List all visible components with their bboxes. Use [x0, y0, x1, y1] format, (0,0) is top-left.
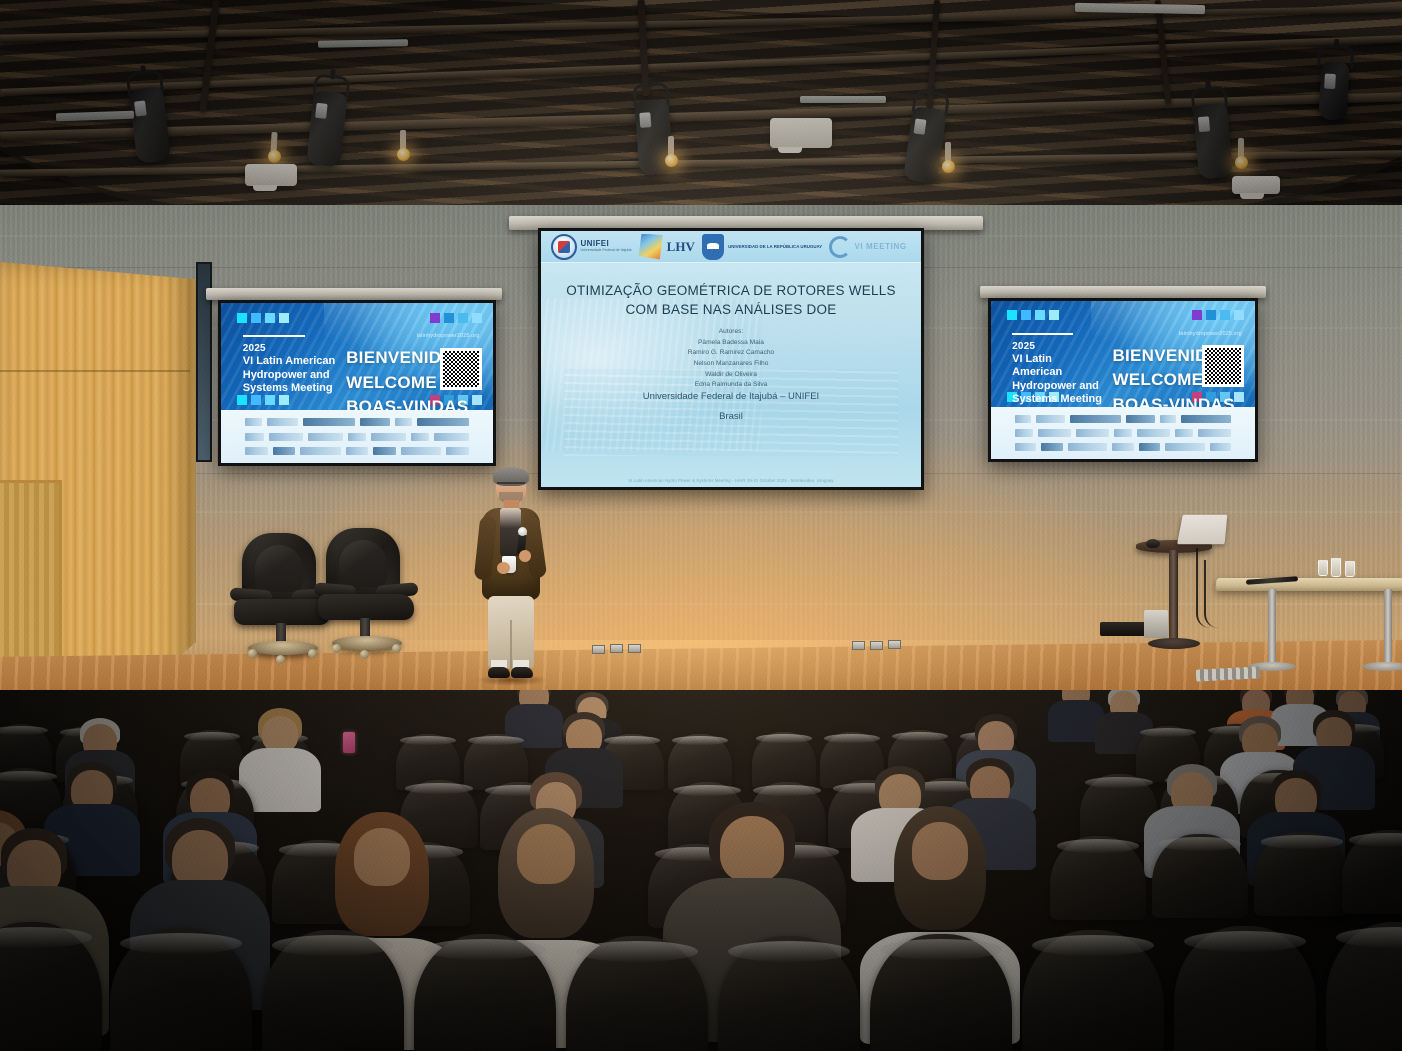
water-glass[interactable]	[1318, 560, 1328, 576]
water-carafe[interactable]	[1331, 558, 1341, 577]
presenter-laptop[interactable]	[1177, 515, 1227, 544]
auditorium-seat[interactable]	[1326, 922, 1402, 1051]
pedestal-pole	[1169, 550, 1178, 642]
table-top	[1215, 578, 1402, 591]
chair-caster	[308, 649, 317, 658]
udelar-shield-icon	[702, 234, 724, 260]
presentation-title-slide: UNIFEI Universidade Federal de Itajubá L…	[541, 231, 921, 487]
presenter-shoe	[488, 667, 510, 678]
cable	[1204, 560, 1230, 628]
auditorium-seat[interactable]	[1254, 832, 1350, 916]
stage-floor-box	[610, 644, 623, 653]
smartphone[interactable]	[343, 732, 355, 753]
qr-code-icon[interactable]	[440, 348, 482, 390]
event-name-line2: Hydropower and	[243, 369, 338, 382]
sponsor-row	[245, 433, 468, 441]
name-badge	[518, 527, 527, 536]
table-leg	[1268, 589, 1276, 665]
chair-seat	[234, 599, 330, 625]
presenter-right-hand	[519, 550, 531, 562]
presenter-person	[470, 470, 550, 685]
meeting-ring-icon	[829, 236, 851, 258]
event-year: 2025	[243, 343, 338, 355]
computer-mouse[interactable]	[1146, 539, 1160, 548]
author-4: Waldir de Oliveira	[579, 370, 883, 381]
event-year: 2025	[1012, 341, 1104, 353]
auditorium-seat[interactable]	[718, 936, 860, 1051]
author-1: Pâmela Badessa Maia	[579, 338, 883, 349]
event-url: latinhydropower2025.org	[1179, 331, 1242, 337]
stage-floor-box	[852, 641, 865, 650]
slide-title: OTIMIZAÇÃO GEOMÉTRICA DE ROTORES WELLS C…	[560, 281, 902, 320]
chair-caster	[276, 655, 285, 664]
event-name-line1: VI Latin American	[243, 355, 338, 368]
logo-meeting: VI MEETING	[829, 236, 906, 258]
decorative-squares-top	[1007, 310, 1059, 320]
projection-screen-left: 2025 VI Latin American Hydropower and Sy…	[218, 300, 496, 466]
decorative-squares-top-right	[1192, 310, 1244, 320]
table-leg	[1384, 589, 1392, 665]
logo-lhv: LHV	[639, 234, 695, 260]
stage-floor-box	[628, 644, 641, 653]
stage-floor-box	[870, 641, 883, 650]
event-name-line1: VI Latin American	[1012, 353, 1104, 380]
auditorium-seat[interactable]	[1152, 834, 1248, 918]
meeting-label: VI MEETING	[854, 242, 906, 251]
udelar-label: UNIVERSIDAD DE LA REPÚBLICA URUGUAY	[728, 244, 822, 250]
welcome-slide-right: 2025 VI Latin American Hydropower and Sy…	[991, 301, 1255, 459]
auditorium-seat[interactable]	[752, 732, 816, 788]
auditorium-seat[interactable]	[0, 922, 102, 1051]
water-glass[interactable]	[1345, 561, 1355, 577]
lhv-emblem-icon	[639, 234, 663, 260]
trouser-seam	[510, 620, 512, 668]
author-3: Nelson Manzanares Filho	[579, 359, 883, 370]
glasses-icon	[497, 482, 525, 488]
event-name-line3: Systems Meeting	[1012, 393, 1104, 406]
projection-screen-center: UNIFEI Universidade Federal de Itajubá L…	[538, 228, 924, 490]
slide-authors: Autores: Pâmela Badessa Maia Ramiro G. R…	[579, 327, 883, 391]
event-name-line3: Systems Meeting	[243, 382, 338, 395]
sponsor-logo-band-left	[221, 410, 493, 463]
auditorium-seat[interactable]	[1342, 830, 1402, 914]
auditorium-seat[interactable]	[566, 936, 708, 1051]
auditorium-seat[interactable]	[1022, 930, 1164, 1051]
presenter-shoe	[511, 667, 533, 678]
sponsor-row	[245, 447, 468, 455]
authors-label: Autores:	[579, 327, 883, 338]
title-rule	[1012, 333, 1073, 335]
slide-footer: VI Latin American Hydro Power & Systems …	[564, 478, 898, 483]
table-foot	[1362, 662, 1402, 671]
sponsor-row	[1015, 443, 1232, 451]
slide-institution: Universidade Federal de Itajubá – UNIFEI	[564, 391, 898, 402]
audience-seating-area	[0, 690, 1402, 1051]
auditorium-seat[interactable]	[414, 934, 556, 1051]
ceiling-shadow	[0, 0, 1402, 215]
author-5: Edna Raimunda da Silva	[579, 380, 883, 391]
sponsor-row	[245, 418, 468, 426]
event-url: latinhydropower2025.org	[417, 333, 480, 339]
title-rule	[243, 335, 306, 337]
sponsor-row	[1015, 429, 1232, 437]
stage-floor-box	[888, 640, 901, 649]
event-title-block-right: 2025 VI Latin American Hydropower and Sy…	[1012, 341, 1104, 407]
auditorium-scene: 2025 VI Latin American Hydropower and Sy…	[0, 0, 1402, 1051]
chair-caster	[248, 649, 257, 658]
pedestal-foot	[1148, 638, 1200, 649]
auditorium-seat[interactable]	[110, 928, 252, 1051]
decorative-squares-bottom	[237, 395, 289, 405]
stage-floor-box	[592, 645, 605, 654]
decorative-squares-top	[237, 313, 289, 323]
lhv-label: LHV	[667, 239, 695, 255]
qr-code-icon[interactable]	[1202, 345, 1244, 387]
ceiling-structure	[0, 0, 1402, 215]
unifei-subtitle: Universidade Federal de Itajubá	[581, 249, 632, 253]
slide-title-line2: COM BASE NAS ANÁLISES DOE	[560, 300, 902, 320]
slide-title-line1: OTIMIZAÇÃO GEOMÉTRICA DE ROTORES WELLS	[560, 281, 902, 301]
chair-seat	[318, 594, 414, 620]
logo-unifei: UNIFEI Universidade Federal de Itajubá	[551, 234, 632, 260]
welcome-slide-left: 2025 VI Latin American Hydropower and Sy…	[221, 303, 493, 463]
slide-logo-bar: UNIFEI Universidade Federal de Itajubá L…	[541, 231, 921, 263]
auditorium-seat[interactable]	[1174, 926, 1316, 1051]
sponsor-row	[1015, 415, 1232, 423]
projection-screen-housing-left	[206, 288, 502, 300]
decorative-squares-top-right	[430, 313, 482, 323]
auditorium-seat[interactable]	[262, 930, 404, 1051]
auditorium-seat[interactable]	[1050, 836, 1146, 920]
wood-panel-seam	[0, 370, 190, 372]
event-name-line2: Hydropower and	[1012, 380, 1104, 393]
author-2: Ramiro G. Ramirez Camacho	[579, 348, 883, 359]
presenter-left-hand	[497, 562, 510, 574]
projection-screen-right: 2025 VI Latin American Hydropower and Sy…	[988, 298, 1258, 462]
chair-caster	[332, 644, 341, 653]
chair-caster	[360, 650, 369, 659]
slide-country: Brasil	[564, 411, 898, 422]
power-box	[1144, 610, 1168, 638]
projection-screen-housing-right	[980, 286, 1266, 298]
chair-caster	[392, 644, 401, 653]
event-title-block-left: 2025 VI Latin American Hydropower and Sy…	[243, 343, 338, 395]
auditorium-seat[interactable]	[870, 934, 1012, 1051]
logo-udelar: UNIVERSIDAD DE LA REPÚBLICA URUGUAY	[702, 234, 822, 260]
unifei-emblem-icon	[551, 234, 577, 260]
sponsor-logo-band-right	[991, 407, 1255, 459]
